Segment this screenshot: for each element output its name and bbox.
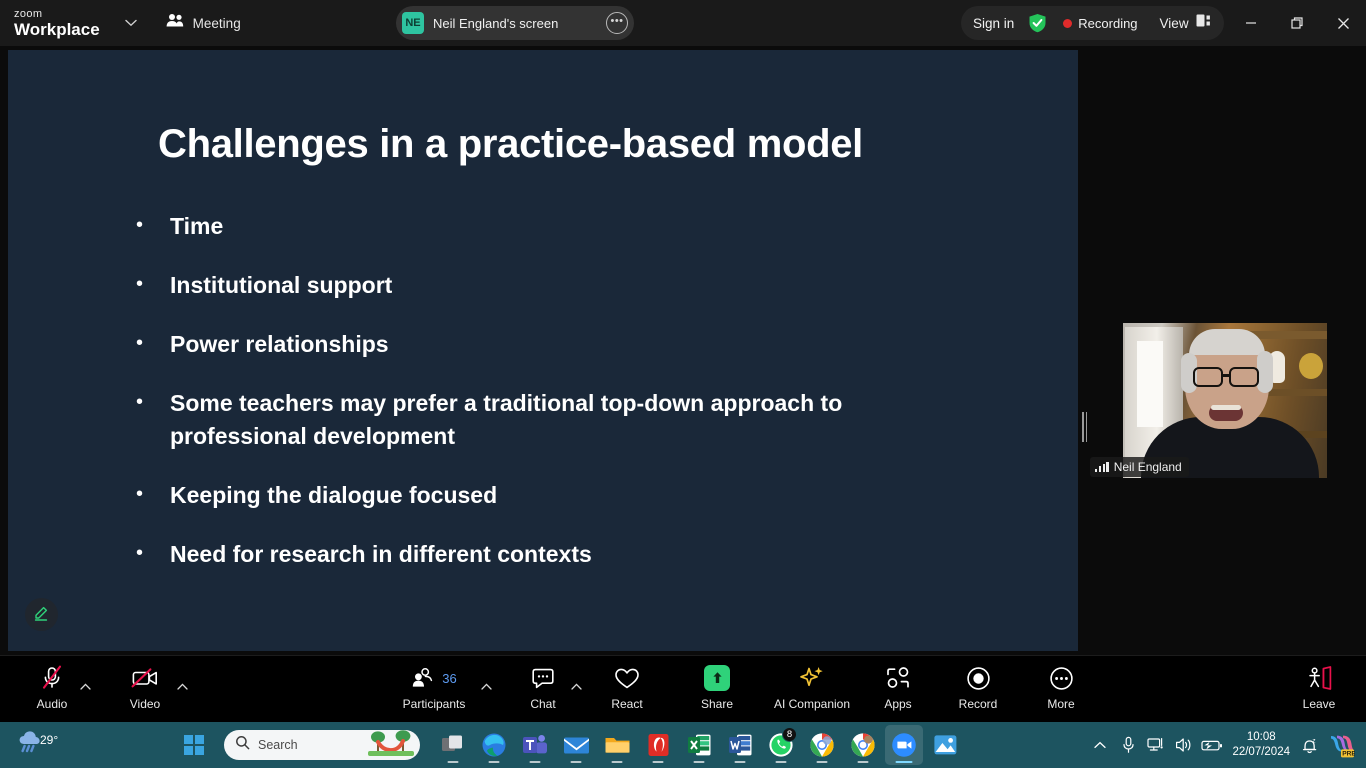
layout-icon [1196,14,1212,32]
annotate-button[interactable] [25,598,58,631]
recording-indicator[interactable]: Recording [1063,16,1137,31]
list-item-label: Some teachers may prefer a traditional t… [170,387,930,453]
chat-button-label: Chat [530,697,555,711]
weather-widget[interactable]: 29° [16,728,58,763]
bullet-marker: • [136,269,170,299]
participant-name-label: Neil England [1114,460,1182,474]
react-button[interactable]: React [592,664,662,716]
whatsapp-badge-count: 8 [782,727,797,742]
search-input[interactable]: Search [224,730,420,760]
system-tray: 10:08 22/07/2024 z PRE [1086,722,1366,768]
zoom-meeting-window: zoom Workplace Meeting NE Neil England's… [0,0,1366,768]
chrome-icon[interactable] [803,725,841,765]
list-item-label: Need for research in different contexts [170,538,592,571]
task-view-icon[interactable] [434,725,472,765]
minimize-icon[interactable] [1228,0,1274,46]
participants-button-label: Participants [403,697,466,711]
list-item-label: Institutional support [170,269,392,302]
record-button-label: Record [959,697,998,711]
list-item: • Time [136,210,1036,243]
react-button-label: React [611,697,642,711]
video-options-caret[interactable] [174,678,190,694]
chrome-icon[interactable] [844,725,882,765]
ai-companion-button-label: AI Companion [774,697,850,711]
hammock-illustration-icon [368,730,414,760]
bullet-marker: • [136,538,170,568]
zoom-meeting-toolbar: Audio Video [0,655,1366,722]
bell-dnd-icon[interactable]: z [1296,725,1324,765]
close-icon[interactable] [1320,0,1366,46]
list-item-label: Time [170,210,223,243]
zoom-workplace-logo: zoom Workplace [14,9,100,38]
bullet-marker: • [136,479,170,509]
chat-bubble-icon [531,664,555,692]
apps-icon [885,664,911,692]
leave-button-label: Leave [1303,697,1336,711]
video-button-label: Video [130,697,160,711]
share-button-label: Share [701,697,733,711]
sign-in-button[interactable]: Sign in [973,16,1014,31]
leave-button[interactable]: Leave [1284,664,1354,716]
window-controls [1228,0,1366,46]
audio-button-label: Audio [37,697,68,711]
restore-icon[interactable] [1274,0,1320,46]
video-button[interactable]: Video [110,664,180,716]
shared-screen-indicator[interactable]: NE Neil England's screen ••• [396,6,634,40]
drag-handle-icon[interactable] [1082,412,1088,442]
audio-options-caret[interactable] [77,678,93,694]
svg-text:z: z [1312,737,1315,744]
copilot-pre-icon[interactable]: PRE [1324,725,1358,765]
zoom-titlebar: zoom Workplace Meeting NE Neil England's… [0,0,1366,46]
view-button[interactable]: View [1160,14,1212,32]
bullet-marker: • [136,328,170,358]
shield-check-icon[interactable] [1028,13,1047,33]
svg-text:PRE: PRE [1342,751,1355,758]
record-button[interactable]: Record [943,664,1013,716]
share-button[interactable]: Share [682,664,752,716]
share-screen-icon [704,664,730,692]
clock-date: 22/07/2024 [1232,745,1290,760]
record-icon [966,664,991,692]
zoom-logo-small: zoom [14,9,100,20]
bullet-marker: • [136,210,170,240]
sparkles-icon [798,664,826,692]
weather-temperature: 29° [40,733,58,747]
network-icon[interactable] [1142,725,1170,765]
apps-button[interactable]: Apps [863,664,933,716]
excel-icon[interactable] [680,725,718,765]
more-ellipsis-icon[interactable]: ••• [606,12,628,34]
list-item-label: Keeping the dialogue focused [170,479,497,512]
pdf-reader-icon[interactable] [639,725,677,765]
slide-bullet-list: • Time • Institutional support • Power r… [136,210,1036,597]
taskbar-center-group: Search [176,722,964,768]
chat-options-caret[interactable] [568,678,584,694]
more-button-label: More [1047,697,1074,711]
search-icon [235,735,250,755]
list-item: • Some teachers may prefer a traditional… [136,387,1036,453]
list-item: • Institutional support [136,269,1036,302]
teams-icon[interactable] [516,725,554,765]
titlebar-right-group: Sign in Recording View [961,6,1224,40]
mail-icon[interactable] [557,725,595,765]
heart-icon [614,664,640,692]
page-title: Challenges in a practice-based model [158,122,863,167]
more-ellipsis-icon [1049,664,1074,692]
clock-time: 10:08 [1247,730,1276,745]
whatsapp-icon[interactable]: 8 [762,725,800,765]
microphone-muted-icon [40,664,64,692]
leave-door-icon [1305,664,1333,692]
battery-icon[interactable] [1198,725,1226,765]
meeting-tab[interactable]: Meeting [166,13,241,33]
list-item: • Power relationships [136,328,1036,361]
view-button-label: View [1160,16,1189,31]
folder-icon[interactable] [598,725,636,765]
word-icon[interactable] [721,725,759,765]
apps-button-label: Apps [884,697,911,711]
shared-screen-label: Neil England's screen [433,16,558,31]
signal-bars-icon [1095,462,1109,472]
participants-options-caret[interactable] [478,678,494,694]
list-item-label: Power relationships [170,328,389,361]
participant-video-tile[interactable] [1123,323,1327,478]
ai-companion-button[interactable]: AI Companion [763,664,861,716]
taskbar-app-icons: 8 [434,725,964,765]
zoom-icon[interactable] [885,725,923,765]
zoom-logo-main: Workplace [14,21,100,38]
camera-muted-icon [131,664,159,692]
people-icon [166,13,185,33]
windows-taskbar: 29° Search [0,722,1366,768]
participant-name-badge: Neil England [1090,457,1189,477]
participants-button[interactable]: 36 Participants [398,664,470,716]
list-item: • Need for research in different context… [136,538,1036,571]
shared-screen-stage: Challenges in a practice-based model • T… [0,46,1366,655]
meeting-tab-label: Meeting [193,16,241,31]
presentation-slide[interactable]: Challenges in a practice-based model • T… [8,50,1078,651]
edge-icon[interactable] [475,725,513,765]
avatar: NE [402,12,424,34]
participants-icon: 36 [411,664,456,692]
windows-start-icon[interactable] [176,722,212,768]
taskbar-clock[interactable]: 10:08 22/07/2024 [1232,730,1290,760]
more-button[interactable]: More [1026,664,1096,716]
search-placeholder: Search [258,738,368,752]
microphone-icon[interactable] [1114,725,1142,765]
bullet-marker: • [136,387,170,417]
recording-label: Recording [1078,16,1137,31]
pencil-annotate-icon [33,604,50,626]
photos-icon[interactable] [926,725,964,765]
speaker-icon[interactable] [1170,725,1198,765]
recording-dot-icon [1063,19,1072,28]
list-item: • Keeping the dialogue focused [136,479,1036,512]
participants-count: 36 [442,671,456,686]
chevron-up-icon[interactable] [1086,725,1114,765]
chevron-down-icon[interactable] [122,14,140,32]
